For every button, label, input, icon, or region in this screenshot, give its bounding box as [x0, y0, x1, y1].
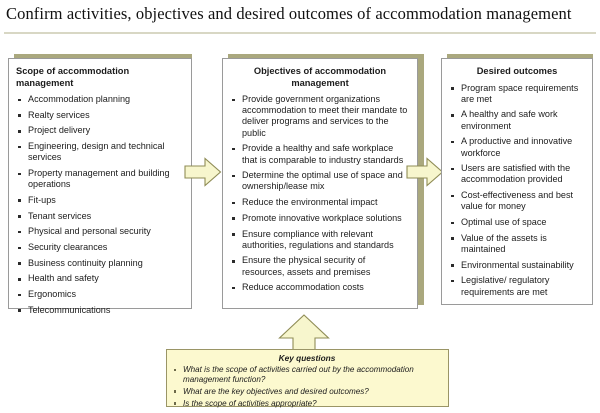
panel-scope: Scope of accommodation management Accomm… [8, 58, 192, 309]
list-item: Engineering, design and technical servic… [16, 141, 184, 163]
list-item: Optimal use of space [449, 217, 585, 228]
list-item: What is the scope of activities carried … [172, 365, 442, 385]
list-item: Accommodation planning [16, 94, 184, 105]
list-item: Determine the optimal use of space and o… [230, 170, 410, 192]
key-questions-list: What is the scope of activities carried … [172, 365, 442, 409]
list-item: Ensure the physical security of resource… [230, 255, 410, 277]
panel-outcomes: Desired outcomes Program space requireme… [441, 58, 593, 305]
list-item: Users are satisfied with the accommodati… [449, 163, 585, 185]
list-item: Value of the assets is maintained [449, 233, 585, 255]
panel-outcomes-list: Program space requirements are met A hea… [449, 83, 585, 298]
list-item: Provide a healthy and safe workplace tha… [230, 143, 410, 165]
page-title: Confirm activities, objectives and desir… [6, 4, 594, 24]
list-item: Is the scope of activities appropriate? [172, 399, 442, 409]
list-item: Promote innovative workplace solutions [230, 213, 410, 224]
arrow-objectives-to-outcomes-icon [406, 157, 444, 187]
panel-scope-heading: Scope of accommodation management [16, 66, 184, 89]
panel-objectives-heading: Objectives of accommodation management [230, 66, 410, 89]
panel-objectives: Objectives of accommodation management P… [222, 58, 418, 309]
list-item: Realty services [16, 110, 184, 121]
list-item: Business continuity planning [16, 258, 184, 269]
panel-objectives-list: Provide government organizations accommo… [230, 94, 410, 294]
list-item: Health and safety [16, 273, 184, 284]
list-item: Legislative/ regulatory requirements are… [449, 275, 585, 297]
list-item: Security clearances [16, 242, 184, 253]
list-item: Program space requirements are met [449, 83, 585, 105]
arrow-scope-to-objectives-icon [184, 157, 222, 187]
list-item: Tenant services [16, 211, 184, 222]
list-item: A healthy and safe work environment [449, 109, 585, 131]
list-item: Property management and building operati… [16, 168, 184, 190]
list-item: Provide government organizations accommo… [230, 94, 410, 139]
list-item: Ergonomics [16, 289, 184, 300]
panel-scope-list: Accommodation planning Realty services P… [16, 94, 184, 316]
list-item: Physical and personal security [16, 226, 184, 237]
list-item: A productive and innovative workforce [449, 136, 585, 158]
list-item: Fit-ups [16, 195, 184, 206]
key-questions-box: Key questions What is the scope of activ… [166, 349, 449, 407]
list-item: Ensure compliance with relevant authorit… [230, 229, 410, 251]
list-item: Reduce the environmental impact [230, 197, 410, 208]
list-item: Cost-effectiveness and best value for mo… [449, 190, 585, 212]
key-questions-heading: Key questions [172, 353, 442, 363]
list-item: Telecommunications [16, 305, 184, 316]
list-item: Reduce accommodation costs [230, 282, 410, 293]
panel-outcomes-heading: Desired outcomes [449, 66, 585, 78]
title-divider [4, 32, 596, 34]
list-item: Project delivery [16, 125, 184, 136]
list-item: What are the key objectives and desired … [172, 387, 442, 397]
list-item: Environmental sustainability [449, 260, 585, 271]
